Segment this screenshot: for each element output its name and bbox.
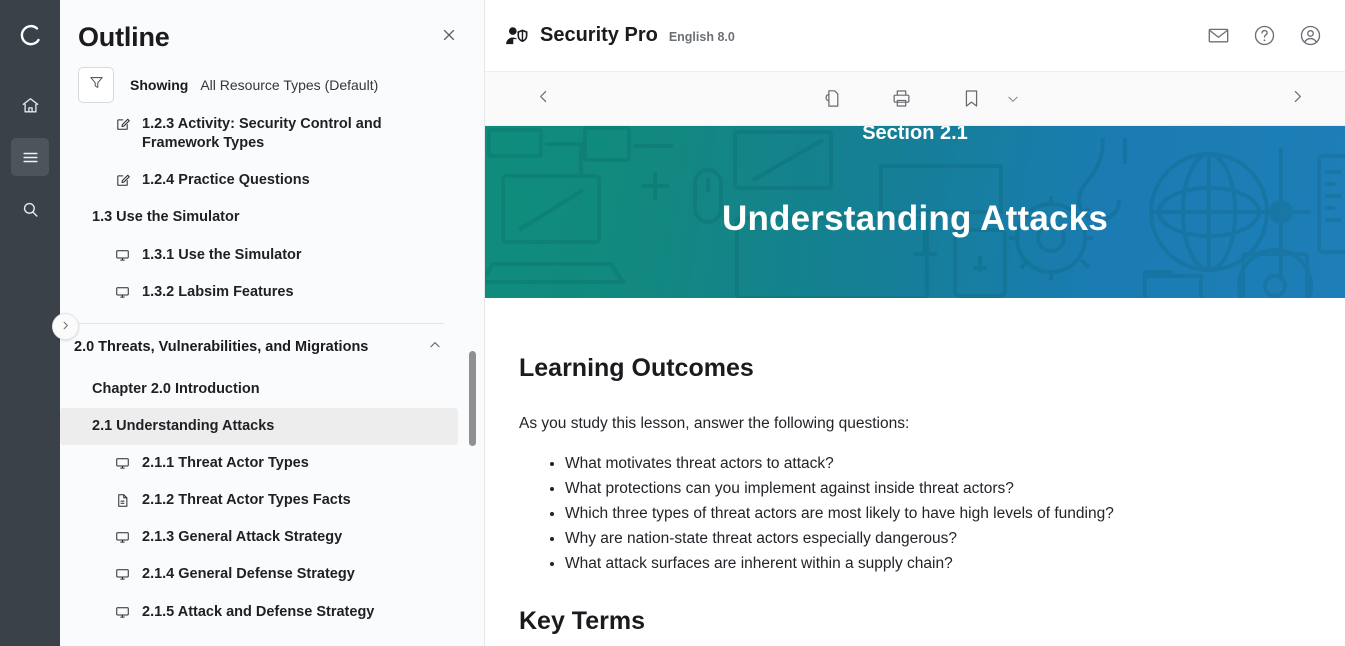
chevron-left-icon xyxy=(535,88,552,110)
person-shield-icon xyxy=(505,26,529,46)
topbar-actions xyxy=(1205,23,1323,49)
learning-outcomes-heading: Learning Outcomes xyxy=(519,354,1305,383)
help-circle-icon[interactable] xyxy=(1251,23,1277,49)
list-item[interactable]: 1.2.4 Practice Questions xyxy=(60,162,458,199)
learning-outcomes-list: What motivates threat actors to attack? … xyxy=(519,451,1305,577)
activity-pencil-icon xyxy=(112,171,132,188)
print-icon[interactable] xyxy=(887,85,915,113)
list-item-label: 2.1.2 Threat Actor Types Facts xyxy=(142,491,351,510)
monitor-video-icon xyxy=(112,528,132,545)
outline-header: Outline xyxy=(60,0,484,57)
app-version: English 8.0 xyxy=(669,30,735,44)
monitor-video-icon xyxy=(112,283,132,300)
monitor-video-icon xyxy=(112,565,132,582)
section-header-2-0[interactable]: 2.0 Threats, Vulnerabilities, and Migrat… xyxy=(60,324,458,371)
list-item-label: 2.1 Understanding Attacks xyxy=(92,417,274,436)
list-item-label: 1.3 Use the Simulator xyxy=(92,208,239,227)
filter-funnel-icon xyxy=(88,74,105,96)
chevron-up-icon[interactable] xyxy=(428,338,442,357)
list-item-label: 2.1.5 Attack and Defense Strategy xyxy=(142,603,374,622)
banner-section-label: Section 2.1 xyxy=(485,126,1345,145)
bookmark-icon[interactable] xyxy=(957,85,985,113)
chevron-down-icon[interactable] xyxy=(1003,89,1023,109)
filter-row: Showing All Resource Types (Default) xyxy=(60,57,484,111)
list-item: What motivates threat actors to attack? xyxy=(565,451,1305,476)
monitor-video-icon xyxy=(112,454,132,471)
sidebar-item-home[interactable] xyxy=(11,86,49,124)
hamburger-menu-icon xyxy=(21,148,40,167)
list-item[interactable]: 2.1.2 Threat Actor Types Facts xyxy=(60,482,458,519)
list-item-label: 1.3.2 Labsim Features xyxy=(142,283,294,302)
outline-panel: Outline Showing All Resource Types (Defa… xyxy=(60,0,485,646)
content-area: Security Pro English 8.0 xyxy=(485,0,1345,646)
list-item[interactable]: 1.3.1 Use the Simulator xyxy=(60,237,458,274)
list-item[interactable]: 1.2.3 Activity: Security Control and Fra… xyxy=(60,111,458,162)
app-topbar: Security Pro English 8.0 xyxy=(485,0,1345,72)
list-item-label: 2.1.4 General Defense Strategy xyxy=(142,565,355,584)
left-nav-rail xyxy=(0,0,60,646)
chevron-right-icon xyxy=(1289,88,1306,110)
filter-button[interactable] xyxy=(78,67,114,103)
monitor-video-icon xyxy=(112,603,132,620)
home-icon xyxy=(21,96,40,115)
list-item: What attack surfaces are inherent within… xyxy=(565,551,1305,576)
list-item-label: 2.1.3 General Attack Strategy xyxy=(142,528,342,547)
copy-icon[interactable] xyxy=(817,85,845,113)
outline-scroll-region: 1.2.3 Activity: Security Control and Fra… xyxy=(60,111,484,646)
lesson-toolbar xyxy=(485,72,1345,126)
list-item-label: Chapter 2.0 Introduction xyxy=(92,380,260,399)
previous-page-button[interactable] xyxy=(523,79,563,119)
key-terms-heading: Key Terms xyxy=(519,607,1305,636)
list-item[interactable]: 1.3.2 Labsim Features xyxy=(60,274,458,311)
list-item: Why are nation-state threat actors espec… xyxy=(565,526,1305,551)
next-page-button[interactable] xyxy=(1277,79,1317,119)
list-item-label: 1.3.1 Use the Simulator xyxy=(142,246,302,265)
list-item[interactable]: Chapter 2.0 Introduction xyxy=(60,371,458,408)
list-item: What protections can you implement again… xyxy=(565,476,1305,501)
list-item-selected[interactable]: 2.1 Understanding Attacks xyxy=(60,408,458,445)
page-title: Outline xyxy=(78,22,170,53)
sidebar-item-outline[interactable] xyxy=(11,138,49,176)
list-item[interactable]: 2.1.1 Threat Actor Types xyxy=(60,445,458,482)
account-circle-icon[interactable] xyxy=(1297,23,1323,49)
app-root: Outline Showing All Resource Types (Defa… xyxy=(0,0,1345,646)
list-item: Which three types of threat actors are m… xyxy=(565,501,1305,526)
filter-selected-value[interactable]: All Resource Types (Default) xyxy=(200,77,378,93)
lesson-intro-text: As you study this lesson, answer the fol… xyxy=(519,415,1305,433)
list-item[interactable]: 2.1.4 General Defense Strategy xyxy=(60,556,458,593)
sidebar-item-search[interactable] xyxy=(11,190,49,228)
panel-collapse-toggle[interactable] xyxy=(52,313,79,340)
outline-scrollbar-thumb[interactable] xyxy=(469,351,476,446)
list-item-label: 2.1.1 Threat Actor Types xyxy=(142,454,309,473)
list-item-label: 1.2.3 Activity: Security Control and Fra… xyxy=(142,115,444,153)
banner-title: Understanding Attacks xyxy=(722,199,1108,239)
list-item[interactable]: 2.1.5 Attack and Defense Strategy xyxy=(60,594,458,631)
list-item[interactable]: 2.1.3 General Attack Strategy xyxy=(60,519,458,556)
brand: Security Pro English 8.0 xyxy=(505,24,735,47)
lesson-body: Learning Outcomes As you study this less… xyxy=(485,298,1345,646)
c-logo-icon[interactable] xyxy=(10,16,50,56)
list-item[interactable]: 1.3 Use the Simulator xyxy=(60,199,458,236)
filter-showing-label: Showing xyxy=(130,77,188,93)
list-item-label: 1.2.4 Practice Questions xyxy=(142,171,310,190)
chevron-right-icon xyxy=(60,318,71,336)
monitor-video-icon xyxy=(112,246,132,263)
section-header-label: 2.0 Threats, Vulnerabilities, and Migrat… xyxy=(74,339,368,355)
mail-icon[interactable] xyxy=(1205,23,1231,49)
activity-pencil-icon xyxy=(112,115,132,132)
close-icon xyxy=(440,26,458,49)
search-icon xyxy=(21,200,40,219)
lesson-banner: Section 2.1 Understanding Attacks xyxy=(485,126,1345,298)
app-title: Security Pro xyxy=(540,24,658,47)
close-outline-button[interactable] xyxy=(434,23,464,53)
banner-text: Section 2.1 Understanding Attacks xyxy=(485,126,1345,298)
outline-tree: 1.2.3 Activity: Security Control and Fra… xyxy=(60,111,484,631)
toolbar-center-group xyxy=(807,85,1023,113)
document-file-icon xyxy=(112,491,132,508)
